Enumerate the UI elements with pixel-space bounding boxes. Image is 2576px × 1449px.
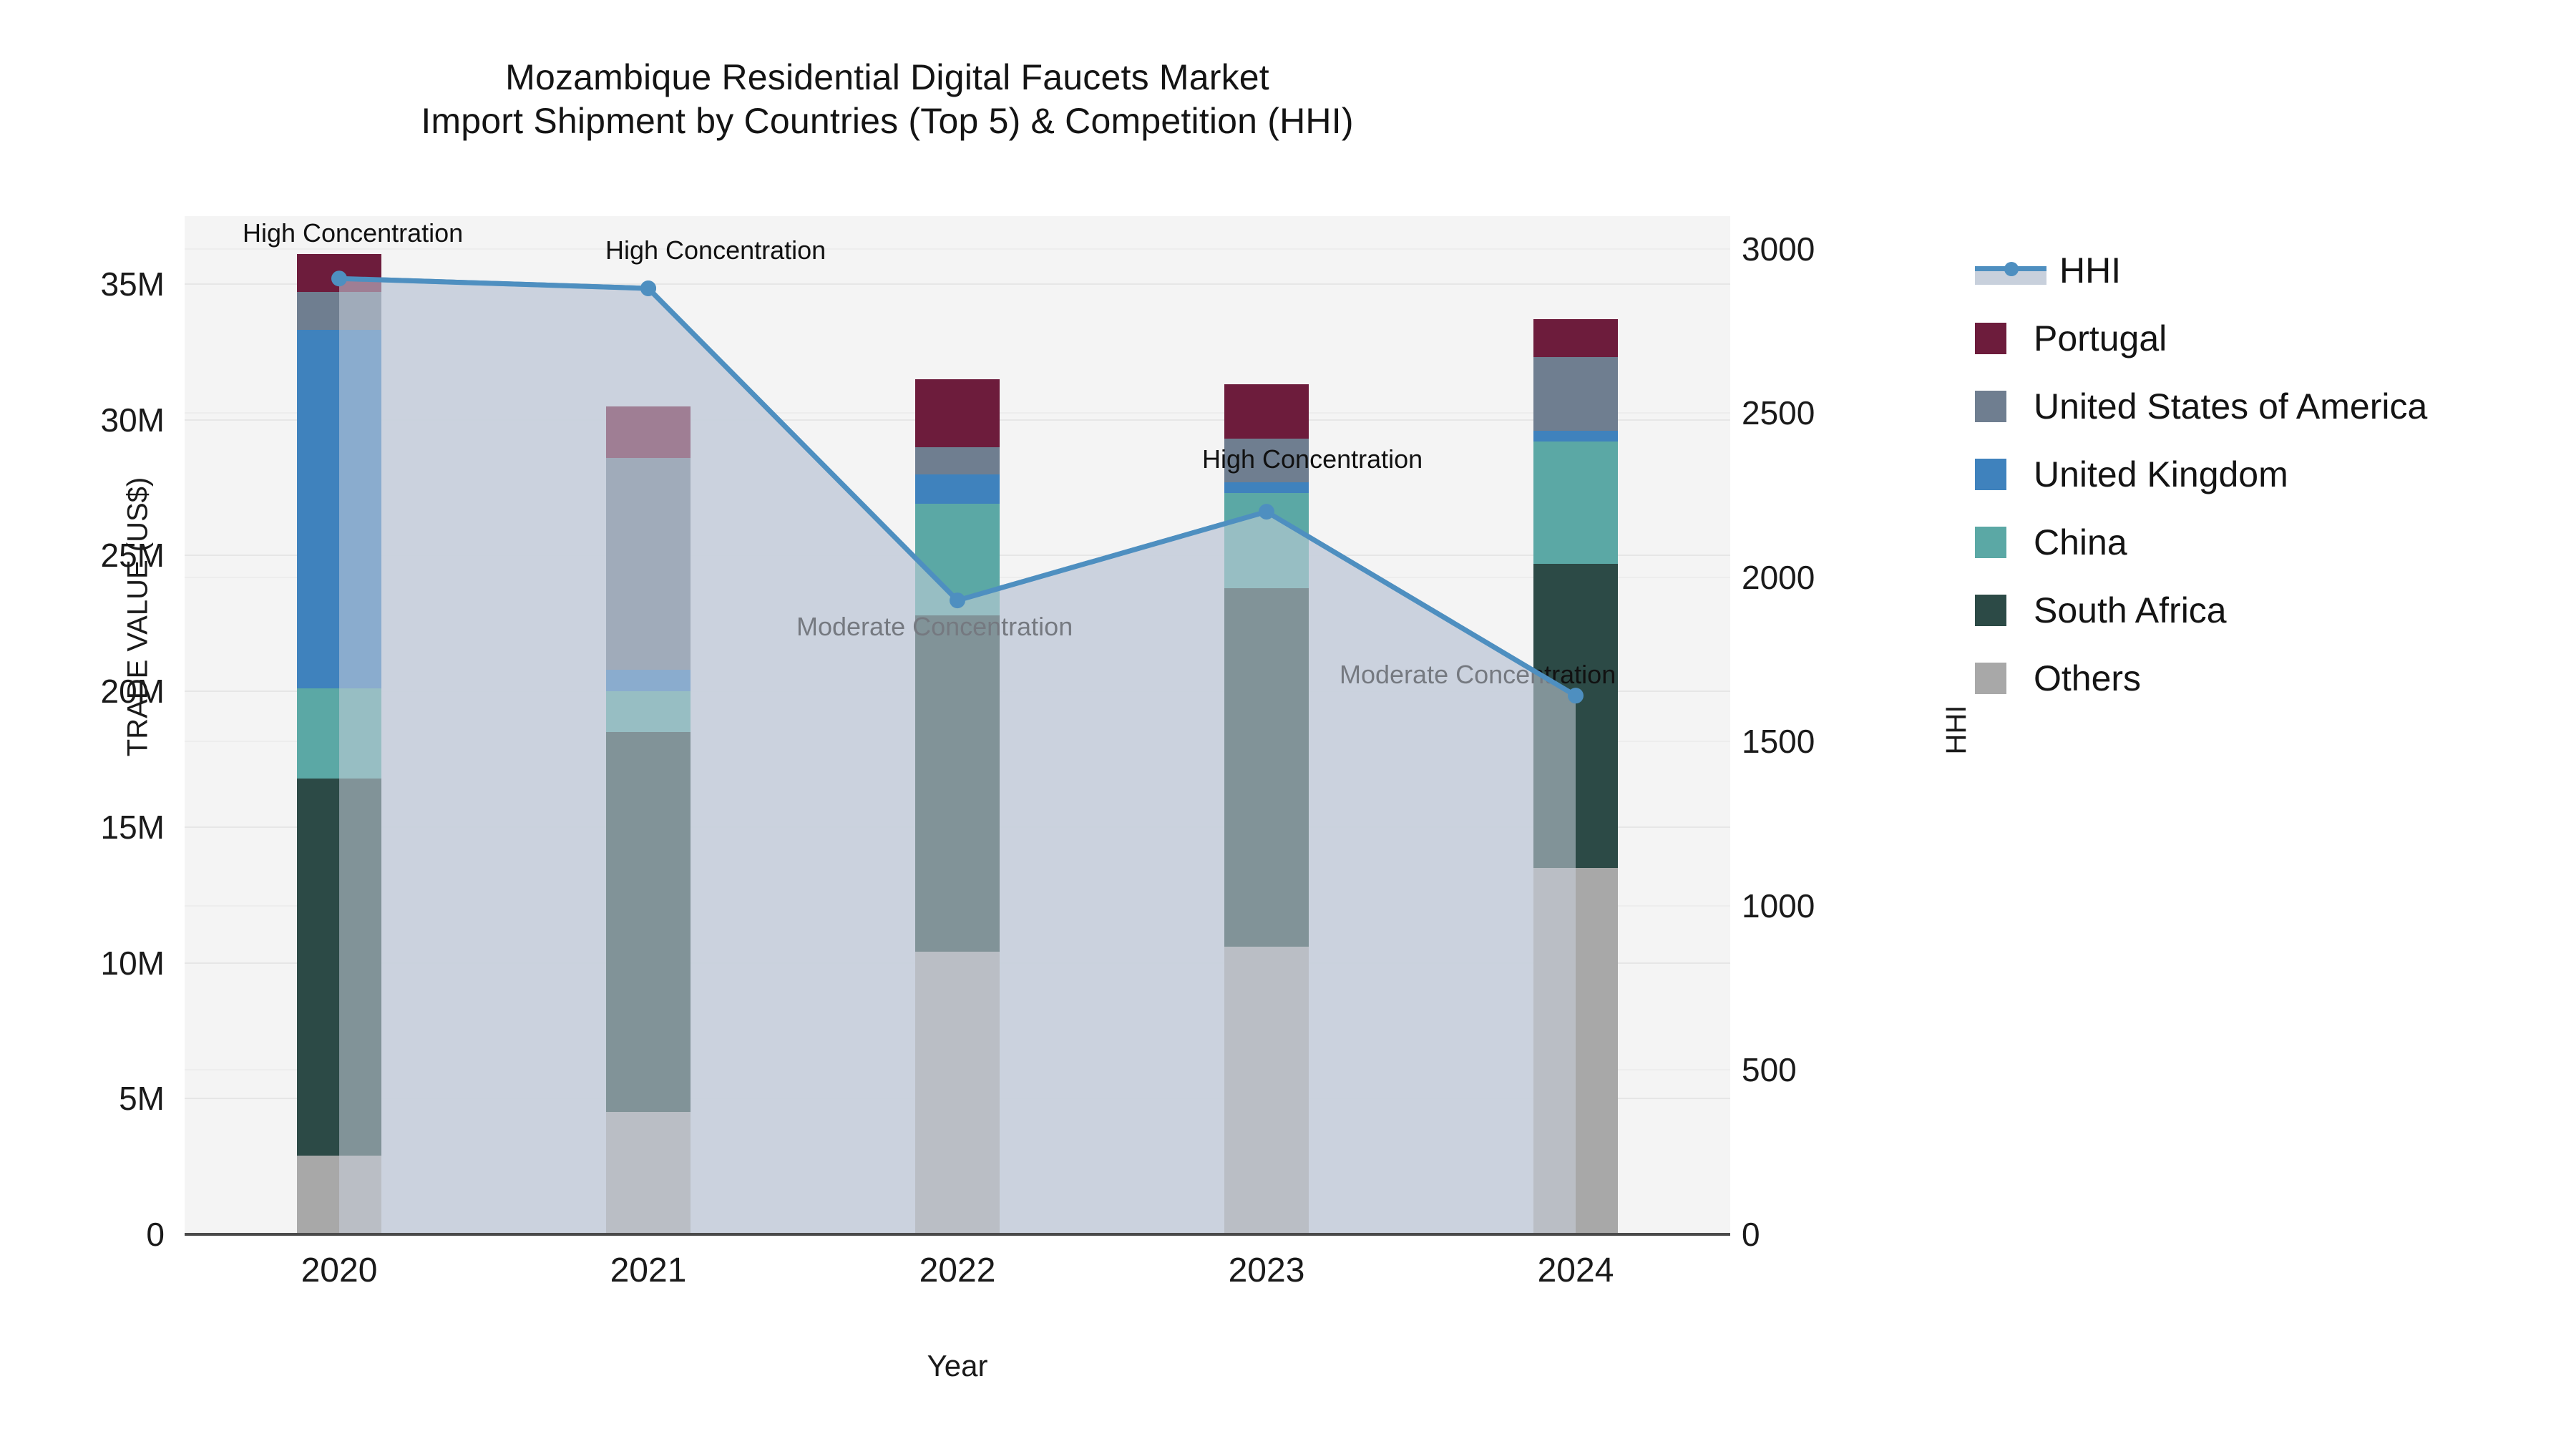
legend-item[interactable]: United Kingdom [1975,440,2427,508]
bar-segment[interactable] [297,254,381,292]
page-title: Mozambique Residential Digital Faucets M… [0,56,1775,99]
legend-color-swatch [1975,391,2006,422]
legend-item[interactable]: Portugal [1975,304,2427,372]
bar-segment[interactable] [606,670,691,691]
bar-segment[interactable] [1224,947,1309,1234]
legend-line-dot [2004,262,2019,276]
page-subtitle: Import Shipment by Countries (Top 5) & C… [0,99,1775,143]
bar-stack[interactable] [1533,216,1618,1234]
y-axis-left-tick-label: 0 [7,1215,165,1254]
legend-item[interactable]: Others [1975,644,2427,712]
bar-segment[interactable] [1224,482,1309,493]
legend-color-swatch [1975,527,2006,558]
bar-segment[interactable] [297,688,381,778]
bar-segment[interactable] [915,504,1000,615]
legend-item[interactable]: South Africa [1975,576,2427,644]
legend-color-swatch [1975,459,2006,490]
y-axis-right-tick-label: 2000 [1742,558,1815,597]
chart-title-block: Mozambique Residential Digital Faucets M… [0,56,1775,143]
bar-segment[interactable] [606,406,691,458]
bar-segment[interactable] [1224,493,1309,588]
legend-item[interactable]: China [1975,508,2427,576]
legend-item-label: China [2034,525,2127,560]
y-axis-right-label: HHI [1941,706,1973,755]
legend-item-label: Others [2034,660,2141,696]
concentration-annotation: High Concentration [1202,444,1423,474]
x-axis-tick-label: 2024 [1538,1251,1614,1290]
concentration-annotation: Moderate Concentration [796,612,1073,642]
y-axis-left-tick-label: 30M [7,401,165,439]
bar-segment[interactable] [1533,564,1618,868]
bar-stack[interactable] [297,216,381,1234]
concentration-annotation: High Concentration [243,218,463,248]
legend-item-label: United Kingdom [2034,457,2288,492]
concentration-annotation: Moderate Concentration [1340,660,1616,690]
bar-segment[interactable] [297,779,381,1156]
bar-stack[interactable] [606,216,691,1234]
legend-line-marker [1975,255,2046,286]
y-axis-right-tick-label: 2500 [1742,394,1815,432]
legend-item-label: HHI [2059,253,2121,288]
legend-item-label: Portugal [2034,321,2167,356]
bar-segment[interactable] [606,1112,691,1234]
x-axis-line [185,1233,1730,1236]
y-axis-left-tick-label: 10M [7,944,165,982]
bar-stack[interactable] [1224,216,1309,1234]
y-axis-left-tick-label: 35M [7,265,165,303]
bar-segment[interactable] [1533,431,1618,441]
y-axis-left-label: TRADE VALUE (US$) [122,477,155,756]
bar-segment[interactable] [606,458,691,670]
bar-segment[interactable] [1533,319,1618,357]
bar-segment[interactable] [1533,868,1618,1234]
y-axis-right-tick-label: 0 [1742,1215,1760,1254]
legend-color-swatch [1975,663,2006,694]
x-axis-label: Year [185,1349,1730,1383]
legend-item[interactable]: United States of America [1975,372,2427,440]
bar-segment[interactable] [297,292,381,330]
x-axis-tick-label: 2023 [1229,1251,1305,1290]
chart-page: Mozambique Residential Digital Faucets M… [0,0,2576,1449]
x-axis-tick-label: 2020 [301,1251,378,1290]
y-axis-right-tick-label: 500 [1742,1050,1797,1089]
y-axis-right-tick-label: 1000 [1742,887,1815,925]
bar-segment[interactable] [297,330,381,688]
plot-area: High ConcentrationHigh ConcentrationMode… [185,216,1730,1234]
bar-segment[interactable] [915,379,1000,447]
bar-segment[interactable] [1533,441,1618,564]
x-axis-tick-label: 2022 [919,1251,996,1290]
bar-segment[interactable] [1224,588,1309,947]
bar-segment[interactable] [1533,357,1618,430]
bar-segment[interactable] [297,1156,381,1234]
bar-segment[interactable] [915,952,1000,1234]
x-axis-tick-label: 2021 [610,1251,687,1290]
legend-color-swatch [1975,323,2006,354]
y-axis-right-tick-label: 3000 [1742,230,1815,268]
bar-segment[interactable] [606,691,691,732]
bar-stack[interactable] [915,216,1000,1234]
bar-segment[interactable] [915,447,1000,474]
y-axis-left-tick-label: 5M [7,1079,165,1118]
legend-item[interactable]: HHI [1975,236,2427,304]
legend-item-label: United States of America [2034,389,2427,424]
legend-color-swatch [1975,595,2006,626]
bar-segment[interactable] [915,615,1000,952]
y-axis-right-tick-label: 1500 [1742,722,1815,761]
chart-legend: HHIPortugalUnited States of AmericaUnite… [1975,236,2427,712]
legend-item-label: South Africa [2034,592,2227,628]
concentration-annotation: High Concentration [605,235,826,265]
bar-segment[interactable] [606,732,691,1112]
bar-segment[interactable] [1224,384,1309,439]
bar-segment[interactable] [915,474,1000,504]
y-axis-left-tick-label: 15M [7,808,165,847]
